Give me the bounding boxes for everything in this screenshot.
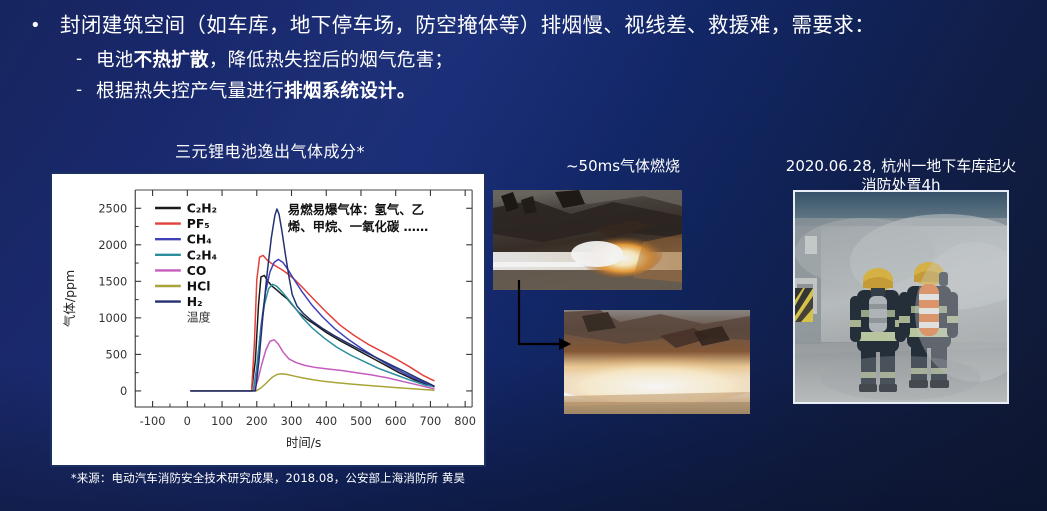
svg-text:CO: CO <box>187 263 207 278</box>
svg-text:易燃易爆气体：氢气、乙: 易燃易爆气体：氢气、乙 <box>288 202 424 217</box>
slide-canvas: • 封闭建筑空间（如车库，地下停车场，防空掩体等）排烟慢、视线差、救援难，需要求… <box>0 0 1047 511</box>
svg-text:温度: 温度 <box>187 310 211 325</box>
bullet-marker-dash: - <box>76 49 96 68</box>
battery-flame-photo-art <box>493 190 682 290</box>
sub1-post: ，降低热失控后的烟气危害； <box>209 50 453 71</box>
svg-text:C₂H₄: C₂H₄ <box>187 247 217 262</box>
chart-source-note: *来源：电动汽车消防安全技术研究成果，2018.08，公安部上海消防所 黄昊 <box>50 470 486 486</box>
svg-text:0: 0 <box>120 384 127 398</box>
sub2-pre: 根据热失控产气量进行 <box>96 81 284 102</box>
svg-text:HCl: HCl <box>187 278 211 293</box>
firefighters-in-smoke-photo <box>793 190 1009 404</box>
bullet-item-level1: • 封闭建筑空间（如车库，地下停车场，防空掩体等）排烟慢、视线差、救援难，需要求… <box>30 12 930 38</box>
bullet-text-main: 封闭建筑空间（如车库，地下停车场，防空掩体等）排烟慢、视线差、救援难，需要求： <box>60 12 875 38</box>
fire-incident-caption: 2020.06.28, 杭州一地下车库起火 消防处置4h <box>768 157 1034 195</box>
gas-composition-chart: 05001000150020002500-1000100200300400500… <box>50 172 486 467</box>
svg-text:800: 800 <box>454 414 476 428</box>
sub2-bold: 排烟系统设计。 <box>284 81 416 102</box>
svg-text:700: 700 <box>420 414 442 428</box>
svg-text:200: 200 <box>246 414 268 428</box>
bullet-item-level2-first: - 电池不热扩散，降低热失控后的烟气危害； <box>76 49 930 73</box>
sub1-bold: 不热扩散 <box>134 50 209 71</box>
chart-title: 三元锂电池逸出气体成分* <box>55 138 485 162</box>
svg-text:PF₅: PF₅ <box>187 216 210 231</box>
battery-flame-closeup-art <box>564 310 750 414</box>
firefighters-photo-art <box>795 192 1007 402</box>
battery-flame-closeup-photo <box>564 310 750 414</box>
fire-caption-line-1: 2020.06.28, 杭州一地下车库起火 <box>768 157 1034 176</box>
svg-text:1500: 1500 <box>98 274 127 288</box>
svg-text:500: 500 <box>106 347 128 361</box>
svg-text:气体/ppm: 气体/ppm <box>62 270 77 327</box>
bullet-item-level2-second: - 根据热失控产气量进行排烟系统设计。 <box>76 80 930 104</box>
svg-text:1000: 1000 <box>98 311 127 325</box>
fire-caption-line-2: 消防处置4h <box>768 176 1034 195</box>
svg-text:H₂: H₂ <box>187 294 203 309</box>
svg-text:500: 500 <box>350 414 372 428</box>
svg-text:C₂H₂: C₂H₂ <box>187 200 217 215</box>
flame-photo-caption: ~50ms气体燃烧 <box>498 157 748 176</box>
svg-text:300: 300 <box>281 414 303 428</box>
svg-text:CH₄: CH₄ <box>187 232 212 247</box>
svg-text:600: 600 <box>385 414 407 428</box>
chart-plot-area: 05001000150020002500-1000100200300400500… <box>52 174 484 465</box>
bullet-marker-dash: - <box>76 80 96 99</box>
battery-flame-photo <box>493 190 682 290</box>
svg-text:0: 0 <box>184 414 191 428</box>
svg-text:400: 400 <box>315 414 337 428</box>
connector-arrow-icon <box>485 278 585 370</box>
svg-text:时间/s: 时间/s <box>286 435 321 450</box>
bullet-list: • 封闭建筑空间（如车库，地下停车场，防空掩体等）排烟慢、视线差、救援难，需要求… <box>30 12 930 111</box>
bullet-text-sub-2: 根据热失控产气量进行排烟系统设计。 <box>96 80 416 104</box>
svg-text:2000: 2000 <box>98 238 127 252</box>
bullet-text-sub-1: 电池不热扩散，降低热失控后的烟气危害； <box>96 49 453 73</box>
svg-text:-100: -100 <box>140 414 166 428</box>
sub1-pre: 电池 <box>96 50 134 71</box>
svg-text:烯、甲烷、一氧化碳 ……: 烯、甲烷、一氧化碳 …… <box>288 219 429 234</box>
bullet-marker-dot: • <box>30 12 60 35</box>
svg-text:2500: 2500 <box>98 201 127 215</box>
svg-text:100: 100 <box>211 414 233 428</box>
